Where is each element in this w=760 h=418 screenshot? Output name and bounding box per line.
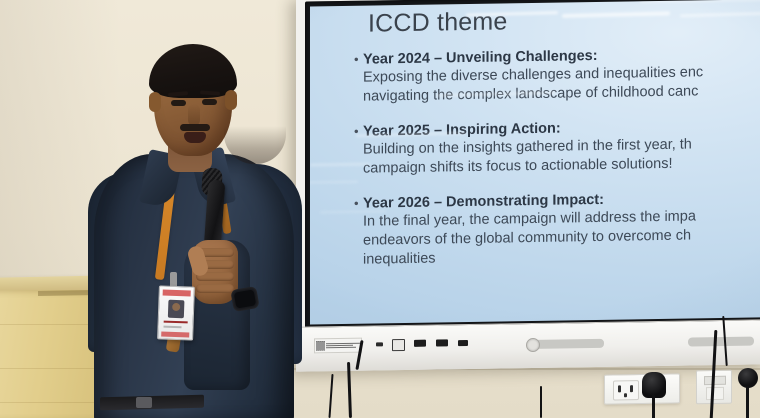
hdmi-port-icon[interactable] <box>376 342 383 346</box>
presentation-slide: ICCD theme • Year 2024 – Unveiling Chall… <box>310 0 760 324</box>
av-port-icon[interactable] <box>458 340 468 346</box>
badge-text-line <box>164 321 188 324</box>
display-spec-label <box>314 338 362 354</box>
badge-text-line <box>163 326 181 329</box>
badge-footer-band <box>161 331 189 337</box>
eye <box>202 99 217 105</box>
watch-face <box>234 289 256 308</box>
usb-port-icon[interactable] <box>392 339 405 351</box>
mustache <box>180 124 210 131</box>
speaker-grille <box>532 339 604 349</box>
interactive-flat-panel-display[interactable]: ICCD theme • Year 2024 – Unveiling Chall… <box>296 0 760 372</box>
presenter <box>92 44 302 418</box>
eye <box>171 100 186 106</box>
power-button[interactable] <box>526 338 540 352</box>
data-port-cover <box>706 387 724 400</box>
screen-vignette <box>310 0 760 324</box>
ear <box>225 90 237 110</box>
presenter-belt <box>100 395 204 411</box>
power-cable <box>746 386 749 418</box>
usb-port-icon[interactable] <box>414 340 426 347</box>
smartwatch[interactable] <box>230 286 259 312</box>
display-cable <box>540 386 542 418</box>
mouth <box>184 132 206 143</box>
presenter-hair <box>149 44 237 98</box>
data-port-icon[interactable] <box>704 376 726 385</box>
badge-header-band <box>163 290 191 297</box>
power-socket-icon[interactable] <box>613 380 639 400</box>
presentation-scene: ICCD theme • Year 2024 – Unveiling Chall… <box>0 0 760 418</box>
av-port-icon[interactable] <box>436 339 448 346</box>
cable-cap <box>738 368 758 388</box>
display-screen-bezel: ICCD theme • Year 2024 – Unveiling Chall… <box>305 0 760 330</box>
label-text-lines <box>326 343 360 349</box>
power-cable <box>652 394 655 418</box>
ear <box>149 92 161 112</box>
badge-photo <box>168 300 185 319</box>
speaker-grille <box>688 337 754 347</box>
finger <box>196 284 234 293</box>
belt-buckle <box>136 397 152 408</box>
id-badge <box>157 285 195 340</box>
qr-code-icon <box>316 341 325 350</box>
display-bottom-bezel <box>296 319 760 371</box>
nose <box>188 104 200 126</box>
